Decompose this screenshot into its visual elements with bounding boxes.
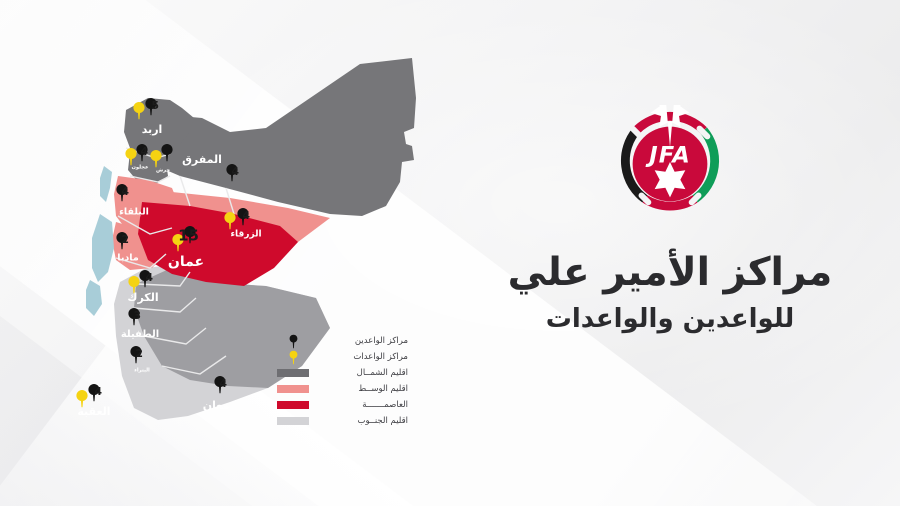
legend-label-girls-centers: مراكز الواعدات: [317, 352, 408, 362]
ajloun-label: عجلون: [131, 165, 149, 171]
legend-item-girls-centers: مراكز الواعدات: [276, 349, 408, 365]
petra-label: البتراء: [134, 368, 150, 374]
legend-item-boys-centers: مراكز الواعدين: [276, 333, 408, 349]
legend-label-capital-region: العاصمـــــــة: [317, 400, 408, 410]
legend-swatch-central: [276, 385, 310, 393]
map-water-dead-sea: [86, 166, 114, 316]
tafilah-count: 3: [133, 309, 141, 322]
legend-label-boys-centers: مراكز الواعدين: [317, 336, 408, 346]
legend-swatch-north: [276, 369, 310, 377]
petra-count: 2: [135, 347, 143, 360]
karak-count: 4: [145, 271, 153, 284]
aqaba-count: 4: [94, 385, 102, 398]
jerash-label: جرش: [156, 168, 170, 174]
irbid-count: 5: [151, 99, 159, 112]
amman-label: عمان: [168, 254, 204, 270]
legend-label-central-region: اقليم الوســط: [317, 384, 408, 394]
zarqa-label: الزرقاء: [230, 230, 261, 240]
legend-item-north-region: اقليم الشمــال: [276, 365, 408, 381]
legend-pin-yellow-icon: [276, 350, 310, 365]
zarqa-count: 4: [242, 209, 250, 222]
maan-label: معان: [203, 399, 230, 412]
poster-canvas: 5 اربد 4 عجلون جرش 4 المفرق: [0, 0, 900, 506]
amman-count: 15: [178, 227, 199, 245]
map-marker-aqaba[interactable]: 4 العقبة: [76, 384, 110, 418]
jfa-logo: JFA: [611, 105, 729, 223]
balqa-count: 4: [121, 185, 129, 198]
legend-pin-black-icon: [276, 334, 310, 349]
irbid-label: اربد: [142, 123, 163, 136]
madaba-label: مادبا: [117, 253, 139, 264]
legend-swatch-capital: [276, 401, 310, 409]
madaba-count: 2: [121, 233, 129, 246]
balqa-label: البلقاء: [119, 207, 149, 218]
maan-count: 4: [219, 377, 227, 390]
legend-label-north-region: اقليم الشمــال: [317, 368, 408, 378]
mafraq-count: 4: [231, 165, 239, 178]
page-subtitle: للواعدين والواعدات: [470, 305, 870, 335]
map-legend: مراكز الواعدين مراكز الواعدات اقليم الشم…: [276, 333, 408, 429]
legend-item-south-region: اقليم الجنــوب: [276, 413, 408, 429]
legend-swatch-south: [276, 417, 310, 425]
legend-label-south-region: اقليم الجنــوب: [317, 416, 408, 426]
karak-label: الكرك: [127, 291, 158, 304]
ajloun-count: 4: [140, 145, 148, 158]
legend-item-central-region: اقليم الوســط: [276, 381, 408, 397]
brand-panel: JFA مراكز الأمير علي للواعدين والواعدات: [470, 60, 870, 400]
tafilah-label: الطفيلة: [121, 329, 159, 340]
legend-item-capital-region: العاصمـــــــة: [276, 397, 408, 413]
jfa-wordmark: JFA: [645, 143, 690, 169]
aqaba-label: العقبة: [77, 405, 110, 418]
page-title: مراكز الأمير علي: [470, 251, 870, 295]
mafraq-label: المفرق: [182, 153, 222, 166]
